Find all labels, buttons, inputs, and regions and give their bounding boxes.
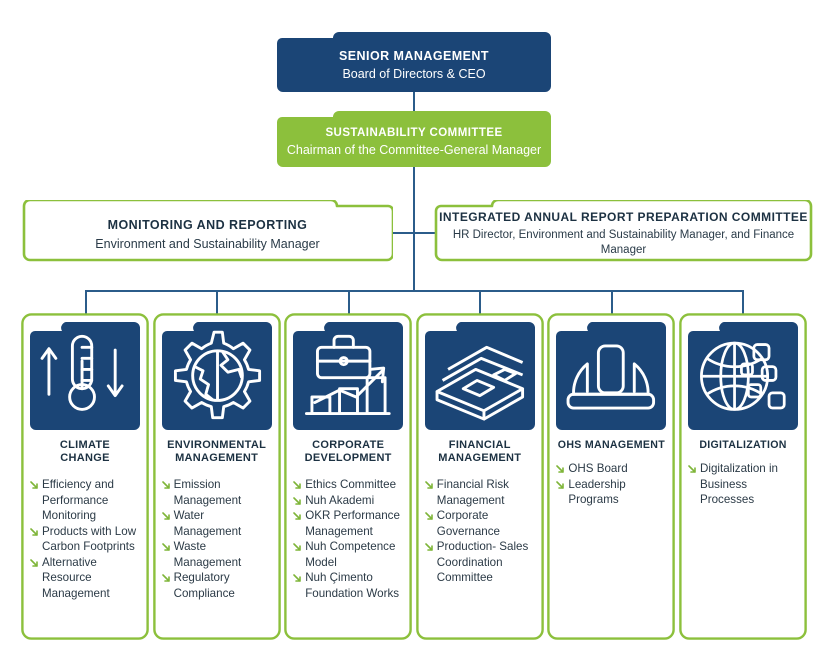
card-list-item[interactable]: OHS Board	[556, 461, 668, 477]
connector-stub-right-green	[414, 232, 435, 234]
card-list-item-label: OHS Board	[568, 462, 627, 475]
card-icon-tile	[162, 322, 272, 430]
box-senior-management[interactable]: SENIOR MANAGEMENT Board of Directors & C…	[277, 32, 551, 92]
bullet-arrow-icon	[293, 543, 301, 551]
sustainability-committee-title: SUSTAINABILITY COMMITTEE	[325, 126, 502, 141]
card-list-item-label: Leadership Programs	[568, 478, 625, 507]
connector-drop-5	[611, 290, 613, 314]
card-list-item-label: OKR Performance Management	[305, 509, 400, 538]
card-title-line: ENVIRONMENTAL	[157, 439, 277, 452]
card-item-list: Emission ManagementWater ManagementWaste…	[162, 477, 274, 601]
card-list-item-label: Nuh Çimento Foundation Works	[305, 571, 399, 600]
card-list-item[interactable]: Production- Sales Coordination Committee	[425, 539, 537, 586]
banknote-stack-icon	[425, 322, 535, 430]
card-list-item[interactable]: Efficiency and Performance Monitoring	[30, 477, 142, 524]
briefcase-growth-chart-icon	[293, 322, 403, 430]
bullet-arrow-icon	[162, 543, 170, 551]
card-list-item[interactable]: Emission Management	[162, 477, 274, 508]
category-card-corporate-development[interactable]: CORPORATEDEVELOPMENTEthics CommitteeNuh …	[284, 313, 412, 640]
card-title-line: FINANCIAL	[420, 439, 540, 452]
bullet-arrow-icon	[688, 465, 696, 473]
bullet-arrow-icon	[556, 481, 564, 489]
card-list-item[interactable]: Nuh Competence Model	[293, 539, 405, 570]
category-card-climate-change[interactable]: CLIMATECHANGEEfficiency and Performance …	[21, 313, 149, 640]
card-list-item-label: Products with Low Carbon Footprints	[42, 525, 136, 554]
card-item-list: Digitalization in Business Processes	[688, 461, 800, 508]
category-card-ohs-management[interactable]: OHS MANAGEMENTOHS BoardLeadership Progra…	[547, 313, 675, 640]
card-list-item-label: Financial Risk Management	[437, 478, 509, 507]
card-title: CLIMATECHANGE	[25, 439, 145, 465]
card-title-line: CHANGE	[25, 452, 145, 465]
card-icon-tile	[30, 322, 140, 430]
bullet-arrow-icon	[162, 574, 170, 582]
card-list-item-label: Production- Sales Coordination Committee	[437, 540, 529, 584]
connector-committee-trunk	[413, 166, 415, 290]
card-list-item-label: Nuh Competence Model	[305, 540, 395, 569]
category-card-digitalization[interactable]: DIGITALIZATIONDigitalization in Business…	[679, 313, 807, 640]
integrated-report-subtitle: HR Director, Environment and Sustainabil…	[434, 228, 813, 257]
bullet-arrow-icon	[425, 512, 433, 520]
category-card-environmental-management[interactable]: ENVIRONMENTALMANAGEMENTEmission Manageme…	[153, 313, 281, 640]
card-title: OHS MANAGEMENT	[551, 439, 671, 452]
connector-senior-to-committee	[413, 92, 415, 111]
connector-stub-left-green	[393, 232, 414, 234]
card-list-item[interactable]: Nuh Akademi	[293, 493, 405, 509]
card-list-item-label: Efficiency and Performance Monitoring	[42, 478, 114, 522]
card-list-item-label: Water Management	[174, 509, 242, 538]
connector-bus	[85, 290, 743, 292]
card-list-item[interactable]: Ethics Committee	[293, 477, 405, 493]
card-item-list: Efficiency and Performance MonitoringPro…	[30, 477, 142, 601]
card-list-item[interactable]: Regulatory Compliance	[162, 570, 274, 601]
bullet-arrow-icon	[293, 481, 301, 489]
card-list-item-label: Alternative Resource Management	[42, 556, 110, 600]
card-title: DIGITALIZATION	[683, 439, 803, 452]
bullet-arrow-icon	[425, 481, 433, 489]
card-list-item[interactable]: Financial Risk Management	[425, 477, 537, 508]
hard-hat-icon	[556, 322, 666, 430]
monitoring-subtitle: Environment and Sustainability Manager	[95, 236, 319, 252]
connector-drop-4	[479, 290, 481, 314]
card-list-item[interactable]: Nuh Çimento Foundation Works	[293, 570, 405, 601]
card-title-line: DEVELOPMENT	[288, 452, 408, 465]
card-list-item[interactable]: Water Management	[162, 508, 274, 539]
card-title: ENVIRONMENTALMANAGEMENT	[157, 439, 277, 465]
box-monitoring-and-reporting[interactable]: MONITORING AND REPORTING Environment and…	[22, 200, 393, 262]
connector-drop-6	[742, 290, 744, 314]
bullet-arrow-icon	[293, 512, 301, 520]
card-item-list: Financial Risk ManagementCorporate Gover…	[425, 477, 537, 586]
card-list-item[interactable]: Waste Management	[162, 539, 274, 570]
card-icon-tile	[688, 322, 798, 430]
card-title-line: MANAGEMENT	[157, 452, 277, 465]
integrated-report-title: INTEGRATED ANNUAL REPORT PREPARATION COM…	[439, 210, 808, 225]
senior-management-subtitle: Board of Directors & CEO	[342, 66, 485, 82]
card-list-item[interactable]: Products with Low Carbon Footprints	[30, 524, 142, 555]
card-icon-tile	[293, 322, 403, 430]
card-list-item-label: Waste Management	[174, 540, 242, 569]
connector-drop-3	[348, 290, 350, 314]
card-list-item[interactable]: Digitalization in Business Processes	[688, 461, 800, 508]
connector-drop-2	[216, 290, 218, 314]
card-title-line: CORPORATE	[288, 439, 408, 452]
card-title: CORPORATEDEVELOPMENT	[288, 439, 408, 465]
box-sustainability-committee[interactable]: SUSTAINABILITY COMMITTEE Chairman of the…	[277, 111, 551, 167]
bullet-arrow-icon	[293, 497, 301, 505]
card-icon-tile	[556, 322, 666, 430]
card-list-item-label: Digitalization in Business Processes	[700, 462, 778, 506]
bullet-arrow-icon	[425, 543, 433, 551]
box-integrated-report-committee[interactable]: INTEGRATED ANNUAL REPORT PREPARATION COM…	[434, 200, 813, 262]
card-list-item-label: Corporate Governance	[437, 509, 500, 538]
card-title-line: DIGITALIZATION	[683, 439, 803, 452]
card-list-item-label: Nuh Akademi	[305, 494, 374, 507]
gear-globe-icon	[162, 322, 272, 430]
sustainability-committee-subtitle: Chairman of the Committee-General Manage…	[287, 142, 541, 158]
bullet-arrow-icon	[293, 574, 301, 582]
card-title: FINANCIALMANAGEMENT	[420, 439, 540, 465]
card-list-item-label: Regulatory Compliance	[174, 571, 235, 600]
monitoring-title: MONITORING AND REPORTING	[108, 217, 308, 233]
card-item-list: Ethics CommitteeNuh AkademiOKR Performan…	[293, 477, 405, 601]
card-title-line: CLIMATE	[25, 439, 145, 452]
card-list-item-label: Emission Management	[174, 478, 242, 507]
card-list-item-label: Ethics Committee	[305, 478, 396, 491]
card-list-item[interactable]: Leadership Programs	[556, 477, 668, 508]
bullet-arrow-icon	[30, 528, 38, 536]
card-list-item[interactable]: Corporate Governance	[425, 508, 537, 539]
senior-management-title: SENIOR MANAGEMENT	[339, 48, 489, 64]
bullet-arrow-icon	[162, 481, 170, 489]
thermometer-arrows-icon	[30, 322, 140, 430]
bullet-arrow-icon	[30, 559, 38, 567]
globe-pixels-icon	[688, 322, 798, 430]
bullet-arrow-icon	[30, 481, 38, 489]
card-item-list: OHS BoardLeadership Programs	[556, 461, 668, 508]
bullet-arrow-icon	[556, 465, 564, 473]
card-list-item[interactable]: OKR Performance Management	[293, 508, 405, 539]
card-title-line: OHS MANAGEMENT	[551, 439, 671, 452]
card-title-line: MANAGEMENT	[420, 452, 540, 465]
category-card-financial-management[interactable]: FINANCIALMANAGEMENTFinancial Risk Manage…	[416, 313, 544, 640]
card-icon-tile	[425, 322, 535, 430]
org-chart-diagram: SENIOR MANAGEMENT Board of Directors & C…	[0, 0, 835, 670]
bullet-arrow-icon	[162, 512, 170, 520]
card-list-item[interactable]: Alternative Resource Management	[30, 555, 142, 602]
connector-drop-1	[85, 290, 87, 314]
